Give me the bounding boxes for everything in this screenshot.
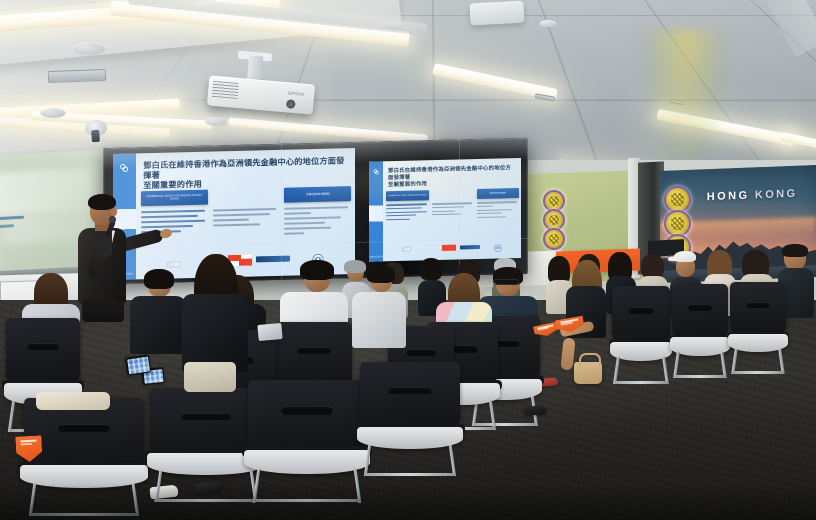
- chair-leg: [489, 400, 496, 430]
- text-line: [213, 219, 250, 222]
- seal-badge-icon: [494, 244, 501, 251]
- text-line: [386, 215, 415, 217]
- credit-bureau-ring-icon: [119, 162, 130, 173]
- text-line: [213, 208, 277, 212]
- signage-word-hong: HONG: [707, 190, 750, 204]
- presenter-legs: [82, 300, 124, 322]
- laptop-lid: [257, 323, 282, 341]
- tablet-device[interactable]: [125, 354, 151, 375]
- hsbc-logo: [441, 243, 480, 252]
- chair-leg: [662, 357, 669, 384]
- chair-foreground[interactable]: [360, 362, 460, 474]
- handbag[interactable]: [574, 362, 602, 384]
- hair: [300, 260, 334, 280]
- hair: [641, 254, 664, 278]
- chair-back: [6, 318, 80, 383]
- lap: [184, 362, 236, 392]
- chair-foreground[interactable]: [248, 380, 366, 500]
- chair-seat: [244, 450, 369, 474]
- chair-leg: [8, 401, 15, 432]
- text-line: [284, 217, 341, 220]
- slide-rail-footer: TransUnion: [369, 254, 385, 258]
- hsbc-hexagon-mark: [441, 244, 457, 252]
- conference-room-photo: EPSON HONG KONG: [0, 0, 816, 520]
- emblem-badge-icon: [664, 210, 691, 237]
- text-line: [213, 213, 270, 216]
- text-line: [432, 214, 461, 216]
- ceiling-speaker: [469, 1, 524, 26]
- signage-word-kong: KONG: [755, 188, 798, 202]
- chair-back: [248, 380, 366, 450]
- chair-back: [612, 286, 670, 342]
- chair-leg: [674, 352, 681, 378]
- chair-leg: [778, 349, 785, 374]
- chair-foot-rail: [614, 381, 667, 384]
- ceiling-diffuser-1: [72, 42, 106, 55]
- chair-leg: [720, 352, 727, 378]
- monitor-icon: [402, 247, 410, 252]
- hair: [367, 265, 395, 283]
- chair-leg: [732, 349, 739, 374]
- column-body-text: [213, 208, 280, 227]
- chair-back: [360, 362, 460, 427]
- column-body-text: [284, 206, 351, 235]
- text-line: [432, 210, 455, 212]
- hair: [144, 269, 174, 289]
- chair-foot-rail: [364, 473, 456, 476]
- chair[interactable]: [730, 282, 786, 372]
- ceiling-color-glow: [640, 30, 730, 178]
- shoe: [524, 405, 547, 416]
- projector-lens: [286, 99, 296, 109]
- chair-foot-rail: [674, 375, 726, 378]
- chair-leg: [449, 445, 456, 476]
- torso: [352, 292, 406, 348]
- torso: [182, 294, 248, 372]
- text-line: [213, 224, 260, 227]
- chair-leg: [364, 445, 371, 476]
- projector-intake-grille: [211, 81, 238, 101]
- ceiling-diffuser-4: [540, 20, 556, 27]
- laptop[interactable]: [257, 323, 282, 341]
- foreground-shadow: [0, 484, 816, 520]
- audience-member-front: [176, 258, 256, 408]
- hong-kong-signage-text: HONG KONG: [707, 188, 798, 203]
- text-line: [477, 216, 506, 218]
- text-line: [284, 212, 311, 215]
- microphone-capsule: [109, 216, 116, 223]
- chair-back: [730, 282, 786, 334]
- ceiling-diffuser-3: [205, 117, 227, 126]
- room-light-bloom: [300, 150, 560, 210]
- emblem-badge-icon: [664, 186, 691, 213]
- tote-bag[interactable]: [36, 392, 110, 410]
- chair-back: [276, 322, 352, 387]
- chair-back: [672, 284, 728, 337]
- ceiling-air-register-1: [48, 69, 106, 83]
- text-line: [477, 213, 502, 215]
- emblem-badge-icon: [543, 228, 565, 250]
- hair: [782, 244, 808, 257]
- presenter-ear: [111, 208, 117, 216]
- chair[interactable]: [672, 284, 728, 376]
- baseball-cap: [674, 251, 696, 262]
- text-line: [386, 218, 409, 220]
- text-line: [386, 211, 426, 213]
- text-line: [284, 222, 324, 225]
- column-header: [213, 188, 280, 205]
- chair-foot-rail: [732, 371, 784, 374]
- ceiling-diffuser-2: [40, 108, 66, 118]
- chair-seat: [357, 427, 463, 449]
- text-line: [284, 227, 331, 230]
- text-line: [284, 232, 304, 234]
- chair[interactable]: [612, 286, 670, 382]
- projector-brand-label: EPSON: [288, 90, 304, 96]
